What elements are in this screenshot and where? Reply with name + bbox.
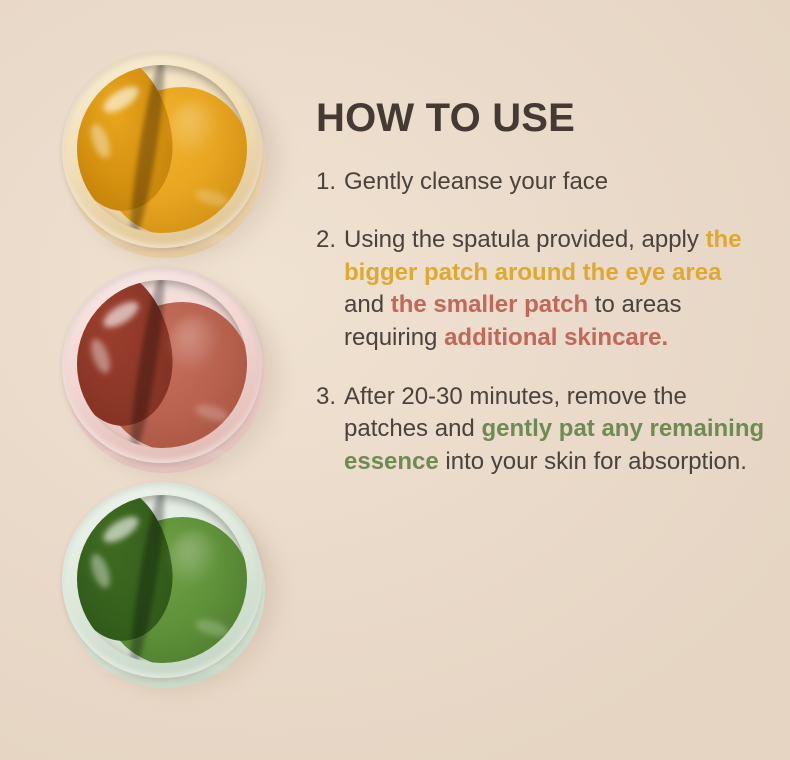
instruction-step: 1. Gently cleanse your face (316, 166, 768, 199)
highlighted-phrase: the smaller patch (391, 291, 588, 318)
gel-highlight (169, 101, 221, 159)
jar-gel-well (77, 65, 247, 233)
jar-gel-well (77, 495, 247, 663)
how-to-use-poster: HOW TO USE 1. Gently cleanse your face 2… (0, 0, 790, 760)
product-jar-column (0, 0, 300, 760)
product-jar-red (62, 267, 268, 473)
instruction-step: 3. After 20-30 minutes, remove the patch… (316, 381, 768, 479)
highlighted-phrase: additional skincare. (444, 324, 668, 351)
instruction-step: 2. Using the spatula provided, apply the… (316, 224, 768, 355)
step-number: 3. (316, 381, 344, 414)
product-jar-green (62, 482, 268, 688)
gel-highlight (169, 531, 221, 589)
step-text: Gently cleanse your face (344, 166, 768, 199)
page-title: HOW TO USE (316, 98, 768, 140)
product-jar-orange (62, 52, 268, 258)
step-number: 2. (316, 224, 344, 257)
plain-phrase: into your skin for absorption. (439, 448, 747, 475)
gel-highlight (169, 316, 221, 374)
step-number: 1. (316, 166, 344, 199)
step-text: Using the spatula provided, apply the bi… (344, 224, 768, 355)
plain-phrase: Using the spatula provided, apply (344, 226, 706, 253)
step-text: After 20-30 minutes, remove the patches … (344, 381, 768, 479)
plain-phrase: Gently cleanse your face (344, 168, 608, 195)
plain-phrase: and (344, 291, 391, 318)
jar-gel-well (77, 280, 247, 448)
instructions-panel: HOW TO USE 1. Gently cleanse your face 2… (316, 98, 768, 479)
